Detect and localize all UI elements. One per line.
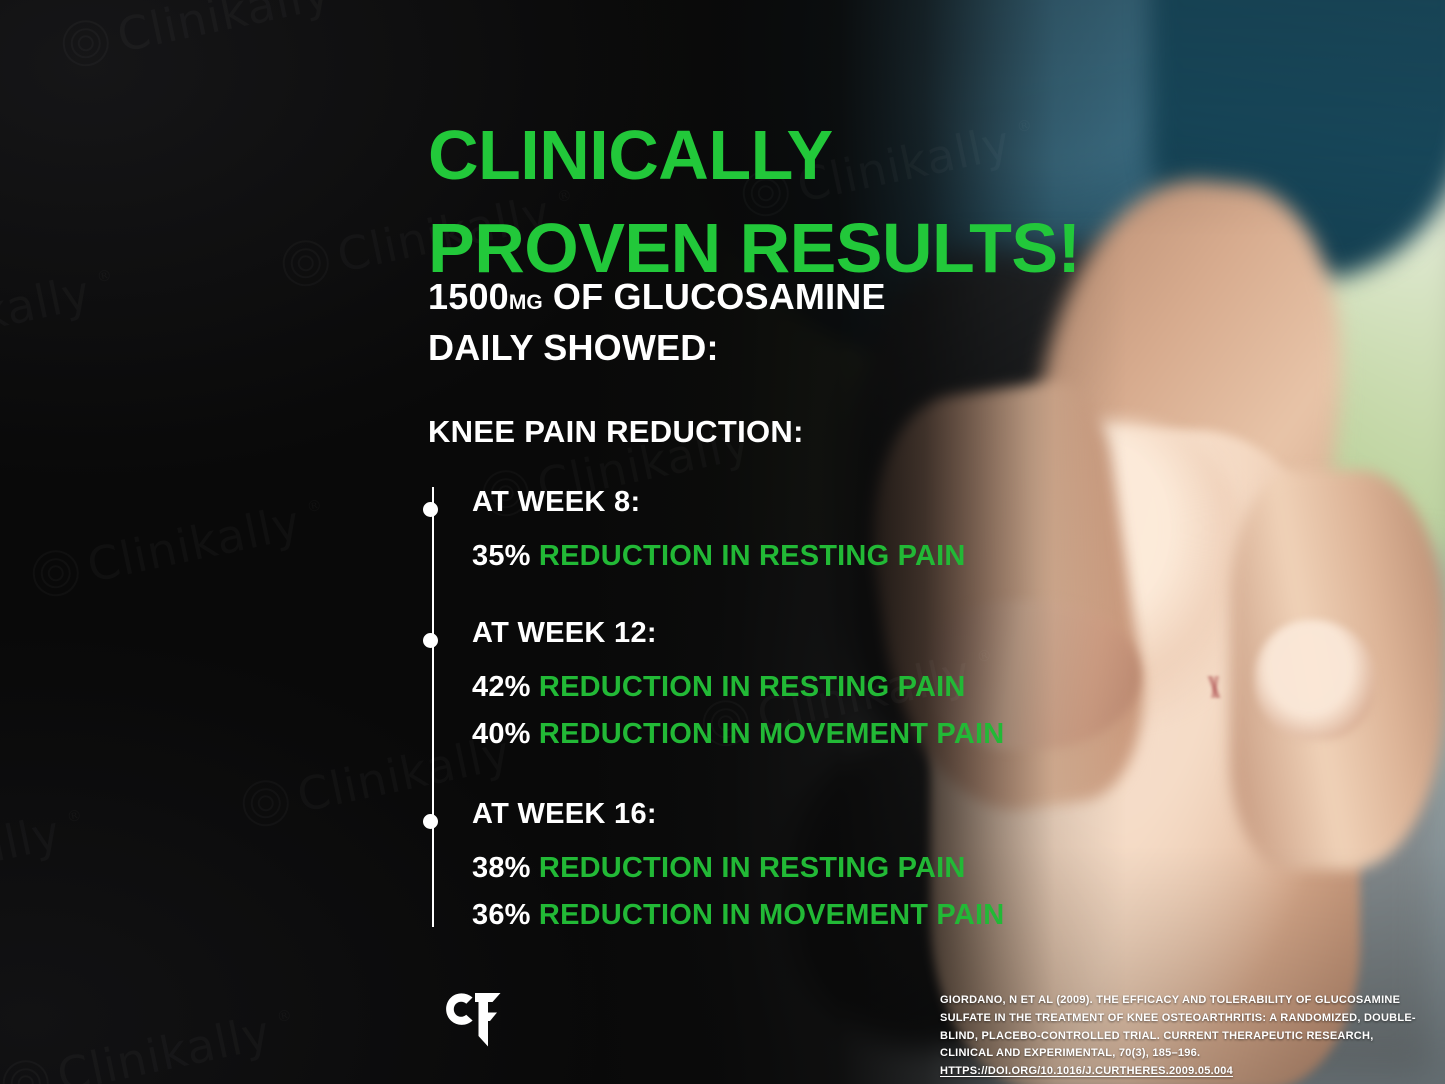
timeline-item: AT WEEK 16: 38% REDUCTION IN RESTING PAI… (428, 799, 1048, 939)
poster-content: CLINICALLY PROVEN RESULTS! 1500mg OF GLU… (0, 0, 1445, 1084)
stat-percent: 35% (472, 540, 531, 572)
infographic-poster: Clinikally ® Clinikally ® Clinikally ® C… (0, 0, 1445, 1084)
page-title: CLINICALLY PROVEN RESULTS! (428, 109, 1128, 295)
timeline-item: AT WEEK 8: 35% REDUCTION IN RESTING PAIN (428, 487, 1048, 580)
timeline-stat: 42% REDUCTION IN RESTING PAIN (472, 664, 1048, 711)
dose-unit: mg (509, 291, 543, 314)
timeline-dot-icon (423, 502, 438, 517)
cf-logo-icon (444, 988, 512, 1052)
timeline-dot-icon (423, 814, 438, 829)
citation-text: GIORDANO, N ET AL (2009). THE EFFICACY A… (940, 994, 1416, 1059)
dose-line-2: DAILY SHOWED: (428, 322, 1068, 373)
timeline-dot-icon (423, 633, 438, 648)
dosage-subheading: 1500mg OF GLUCOSAMINE DAILY SHOWED: (428, 271, 1068, 374)
timeline-stat: 38% REDUCTION IN RESTING PAIN (472, 845, 1048, 892)
dose-line1-rest: OF GLUCOSAMINE (543, 276, 886, 317)
stat-percent: 36% (472, 899, 531, 931)
timeline-stat: 40% REDUCTION IN MOVEMENT PAIN (472, 711, 1048, 758)
dose-value: 1500 (428, 276, 509, 317)
timeline-stat: 36% REDUCTION IN MOVEMENT PAIN (472, 892, 1048, 939)
timeline-week-label: AT WEEK 8: (472, 487, 1048, 519)
stat-description: REDUCTION IN RESTING PAIN (539, 852, 966, 884)
stat-description: REDUCTION IN MOVEMENT PAIN (539, 899, 1004, 931)
stat-description: REDUCTION IN MOVEMENT PAIN (539, 718, 1004, 750)
stat-percent: 42% (472, 671, 531, 703)
timeline-stat: 35% REDUCTION IN RESTING PAIN (472, 533, 1048, 580)
results-timeline: AT WEEK 8: 35% REDUCTION IN RESTING PAIN… (428, 487, 1048, 927)
citation-doi-link[interactable]: HTTPS://DOI.ORG/10.1016/J.CURTHERES.2009… (940, 1065, 1233, 1077)
study-citation: GIORDANO, N ET AL (2009). THE EFFICACY A… (940, 992, 1418, 1081)
timeline-week-label: AT WEEK 12: (472, 618, 1048, 650)
stat-percent: 38% (472, 852, 531, 884)
headline-line-1: CLINICALLY (428, 116, 833, 194)
timeline-item: AT WEEK 12: 42% REDUCTION IN RESTING PAI… (428, 618, 1048, 758)
stat-percent: 40% (472, 718, 531, 750)
stat-description: REDUCTION IN RESTING PAIN (539, 540, 966, 572)
stat-description: REDUCTION IN RESTING PAIN (539, 671, 966, 703)
section-heading: KNEE PAIN REDUCTION: (428, 414, 804, 450)
timeline-week-label: AT WEEK 16: (472, 799, 1048, 831)
